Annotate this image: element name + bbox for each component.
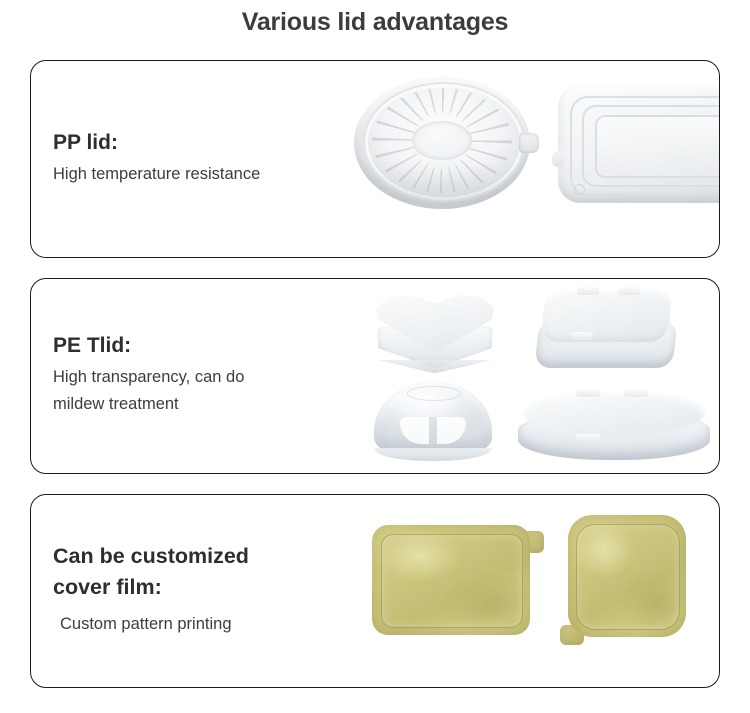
card-pe-heading: PE Tlid: [53,334,346,359]
pe-square-lid-notch-right [618,287,640,295]
pe-dome-lid-image [374,381,492,461]
pe-oval-lid-notch-right [624,389,648,397]
card-pe-figures [346,279,719,473]
card-cover-film-heading-line-2: cover film: [53,575,346,600]
card-pe-lid: PE Tlid: High transparency, can do milde… [30,278,720,474]
card-pe-text-block: PE Tlid: High transparency, can do milde… [31,334,346,417]
pp-round-lid-image [354,77,530,209]
pe-oval-lid-image [518,387,710,463]
pe-heart-lid-image [368,291,502,375]
pp-round-lid-tab [519,133,539,153]
gold-rectangular-foil-lid-image [372,525,530,635]
pe-oval-lid-notch-left [576,389,600,397]
pe-oval-lid-notch-front [576,434,600,442]
card-pp-figures [346,61,719,257]
pe-square-lid-notch-left [577,287,599,295]
pe-heart-lid-lip [377,360,492,373]
card-cover-film-description: Custom pattern printing [53,605,346,638]
pp-rectangular-lid-notch [552,151,564,167]
card-pe-description-line-1: High transparency, can do [53,364,346,391]
pe-square-lid-top [540,289,672,342]
pp-round-lid-shading [359,159,524,207]
pp-rectangular-lid-corner-mark [574,184,585,195]
pp-round-lid-center [412,121,472,161]
pe-dome-lid-base-rim [374,448,492,461]
card-cover-film-heading-line-1: Can be customized [53,544,346,569]
pe-dome-lid-straw-cross [400,417,466,444]
page-title: Various lid advantages [0,8,750,37]
card-pe-description-line-2: mildew treatment [53,391,346,418]
pp-rectangular-lid-panel [595,115,720,178]
card-cover-film: Can be customized cover film: Custom pat… [30,494,720,688]
card-pp-lid: PP lid: High temperature resistance [30,60,720,258]
pe-dome-lid-top-ring [407,386,461,401]
card-cover-film-text-block: Can be customized cover film: Custom pat… [31,544,346,637]
pe-oval-lid-top [522,390,706,434]
gold-square-foil-lid-inner-edge [576,524,679,631]
pe-square-lid-image [534,287,678,373]
card-pp-heading: PP lid: [53,131,346,156]
card-pp-text-block: PP lid: High temperature resistance [31,131,346,187]
pe-square-lid-notch-front [571,332,593,340]
card-cover-film-figures [346,495,719,687]
gold-rectangular-foil-lid-inner-edge [381,534,522,628]
gold-square-foil-lid-image [568,515,686,637]
card-pp-description: High temperature resistance [53,161,346,188]
pp-rectangular-lid-image [558,85,720,203]
